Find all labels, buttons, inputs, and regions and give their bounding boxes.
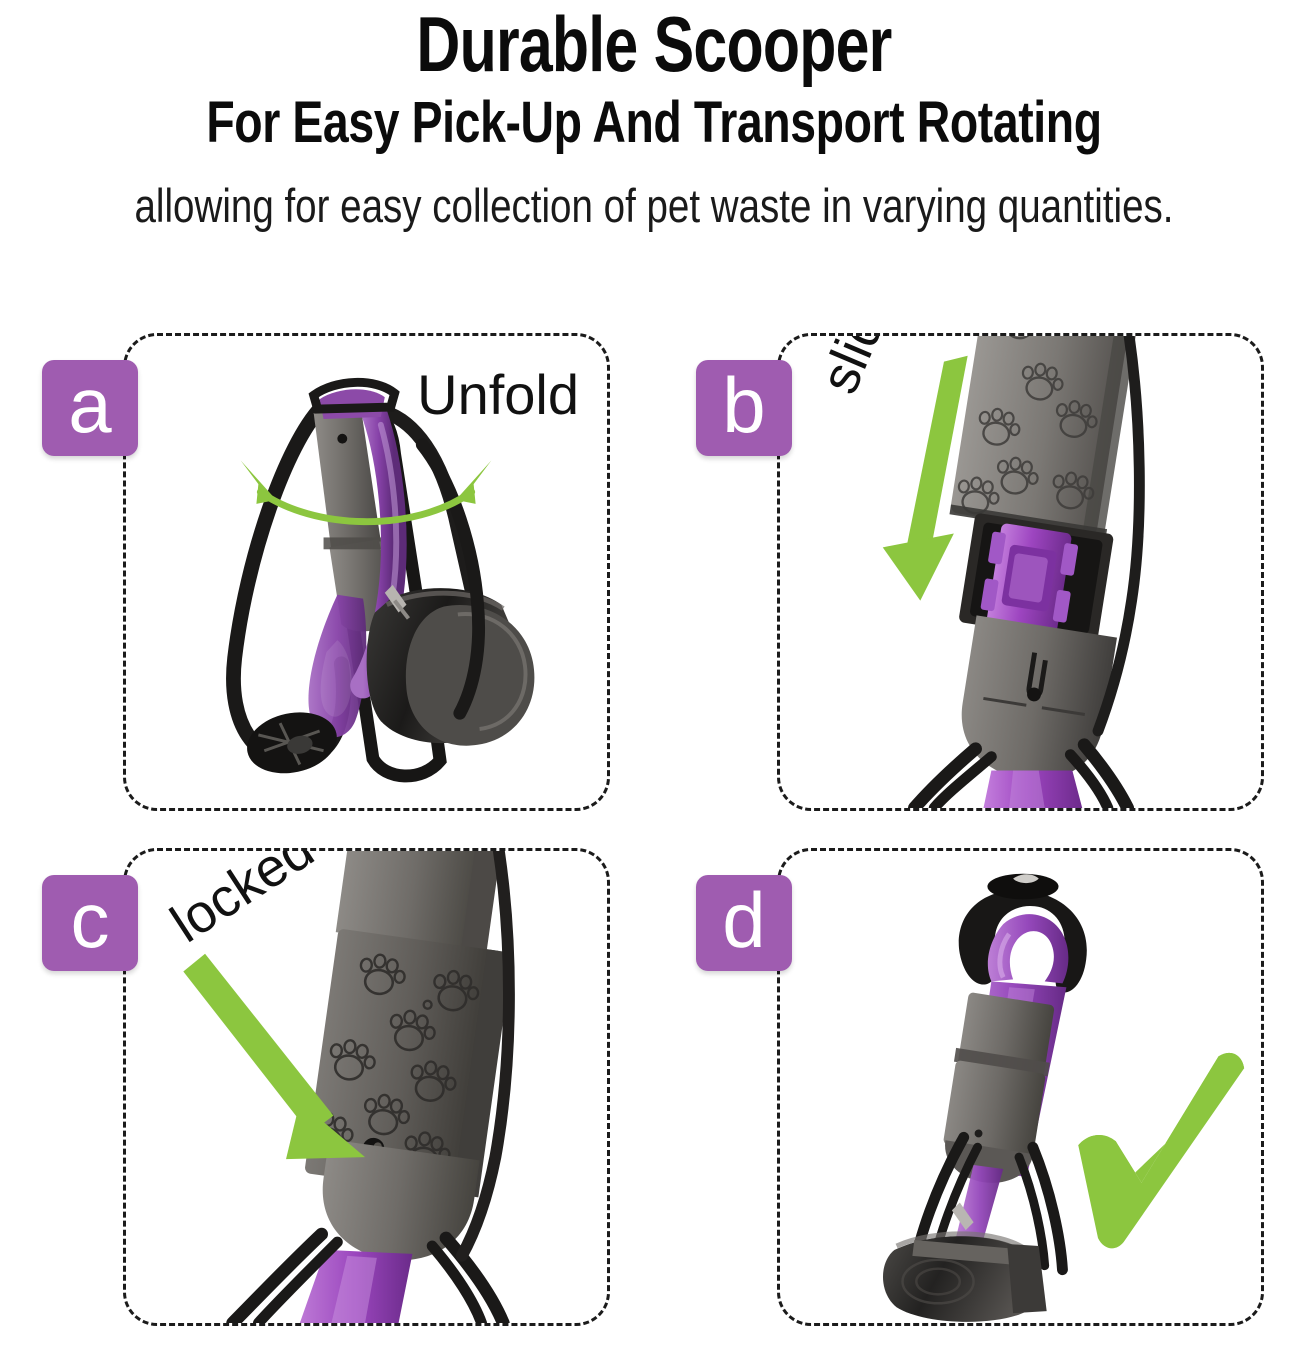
panel-badge-b-label: b [722,366,765,444]
panel-c-frame: locked [123,848,610,1326]
panel-b-frame: slide [777,333,1264,811]
panel-badge-a: a [42,360,138,456]
page-subtitle: For Easy Pick-Up And Transport Rotating [131,94,1177,152]
panel-d-frame [777,848,1264,1326]
panel-d: d [654,833,1308,1348]
panel-badge-c-label: c [71,881,110,959]
panel-badge-b: b [696,360,792,456]
panel-b-illustration [780,336,1261,808]
page-title: Durable Scooper [144,6,1164,82]
page-tagline: allowing for easy collection of pet wast… [118,182,1191,229]
panel-a-frame: Unfold [123,333,610,811]
panel-badge-a-label: a [68,366,111,444]
instruction-panel-grid: Unfold a [0,318,1308,1348]
panel-d-illustration [780,851,1261,1323]
panel-a: Unfold a [0,318,654,833]
checkmark-icon [1078,1053,1244,1249]
header: Durable Scooper For Easy Pick-Up And Tra… [0,0,1308,229]
panel-b: slide b [654,318,1308,833]
annotation-unfold: Unfold [417,362,579,427]
down-arrow-icon [883,356,968,601]
panel-badge-d: d [696,875,792,971]
panel-badge-d-label: d [722,881,765,959]
panel-badge-c: c [42,875,138,971]
panel-c: locked c [0,833,654,1348]
